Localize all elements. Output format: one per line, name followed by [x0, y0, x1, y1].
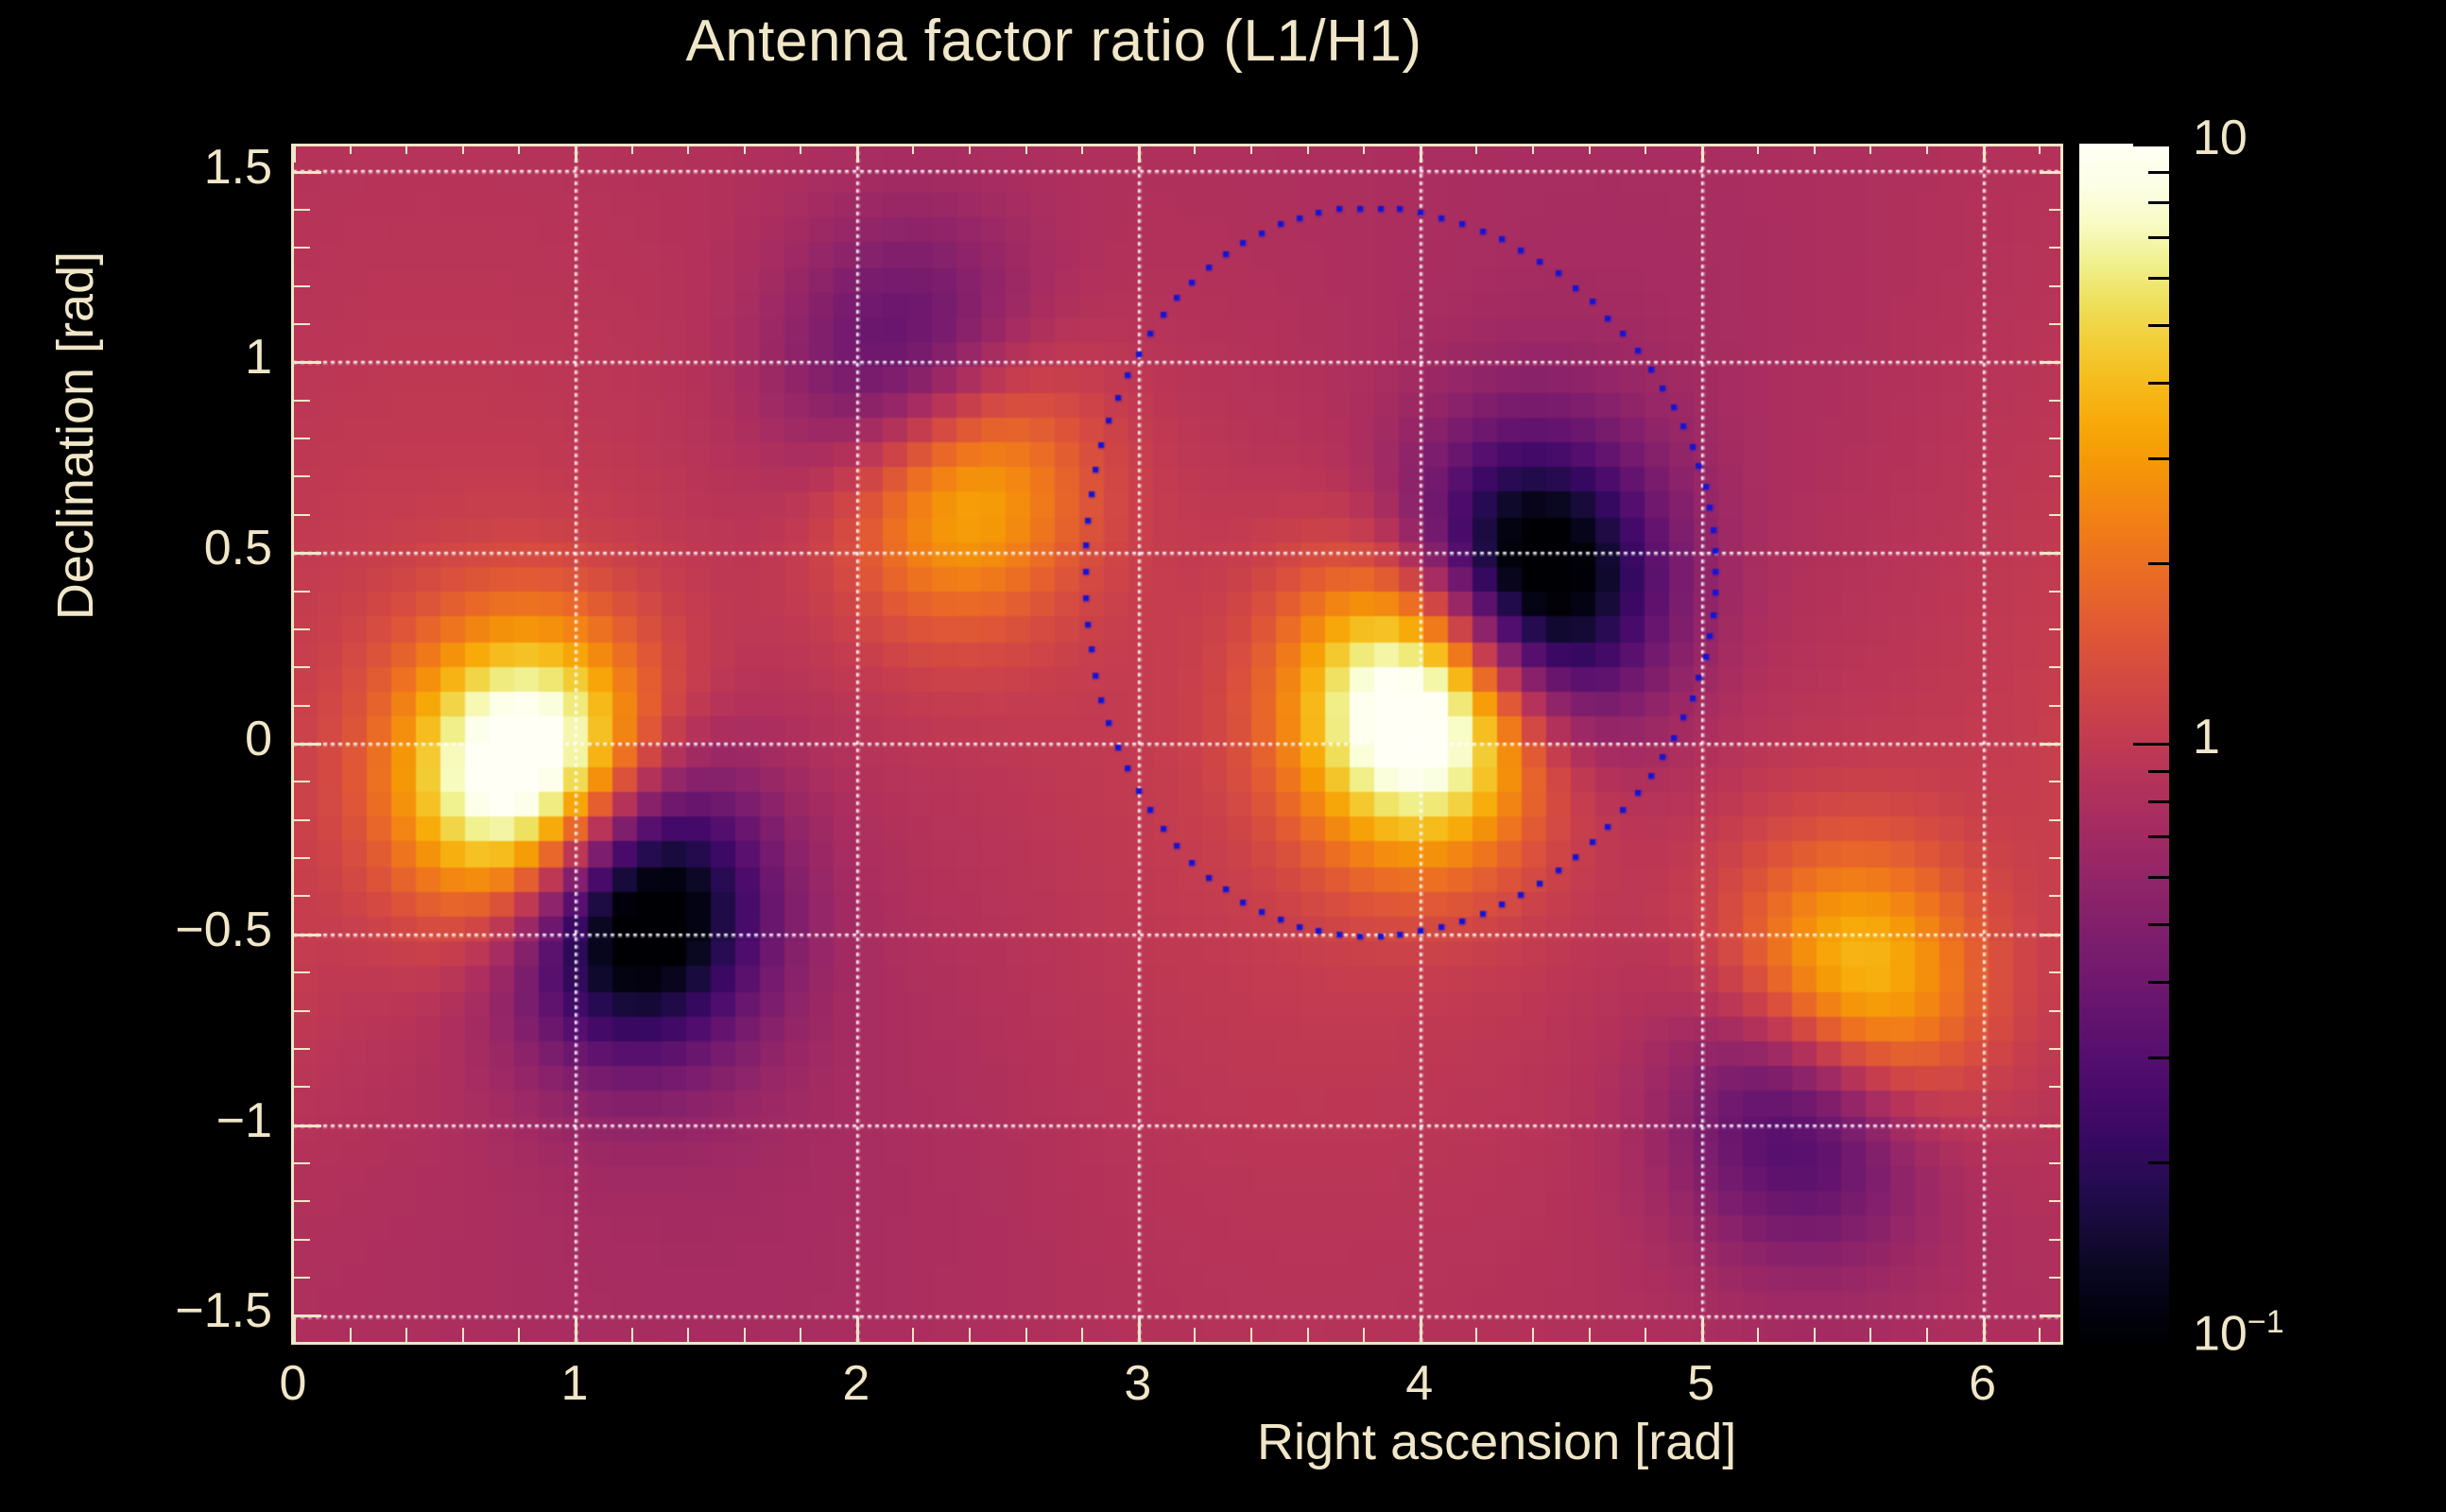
x-tick-minor	[969, 1328, 971, 1342]
sky-localization-contour	[293, 144, 2062, 1342]
y-tick-minor	[293, 323, 310, 325]
y-tick-minor-right	[2049, 247, 2062, 249]
colorbar-label-min-base: 10	[2193, 1306, 2248, 1361]
y-tick-minor-right	[2049, 705, 2062, 707]
colorbar-label-max: 10	[2193, 110, 2248, 166]
y-tick-major	[293, 171, 321, 174]
x-tick-major	[1983, 1317, 1986, 1342]
y-tick-major	[293, 361, 321, 364]
x-tick-minor-top	[1194, 144, 1196, 154]
x-tick-minor-top	[912, 144, 914, 154]
x-tick-minor-top	[1869, 144, 1871, 154]
colorbar-tick-minor	[2148, 835, 2169, 838]
x-tick-minor	[350, 1328, 352, 1342]
y-tick-minor	[293, 400, 310, 402]
x-tick-minor	[1757, 1328, 1759, 1342]
plot-frame-top	[293, 144, 2062, 146]
y-tick-minor	[293, 705, 310, 707]
x-tick-minor-top	[462, 144, 464, 154]
y-tick-minor-right	[2049, 857, 2062, 859]
x-tick-major-top	[293, 144, 296, 163]
y-tick-minor-right	[2049, 1010, 2062, 1012]
y-axis-title: Declination [rad]	[46, 77, 105, 795]
colorbar-tick-minor	[2148, 770, 2169, 773]
x-tick-minor-top	[969, 144, 971, 154]
x-tick-label: 5	[1645, 1355, 1758, 1412]
y-tick-minor-right	[2049, 895, 2062, 897]
x-tick-minor-top	[518, 144, 520, 154]
colorbar-label-mid: 1	[2193, 709, 2220, 765]
colorbar-tick-minor	[2148, 277, 2169, 280]
x-tick-major-top	[1420, 144, 1422, 163]
y-tick-major-right	[2040, 1125, 2062, 1127]
x-tick-major-top	[1138, 144, 1141, 163]
y-tick-minor	[293, 1200, 310, 1202]
colorbar-tick-minor	[2148, 876, 2169, 879]
x-tick-major	[1420, 1317, 1422, 1342]
y-tick-minor	[293, 666, 310, 668]
colorbar-tick-minor	[2148, 457, 2169, 460]
x-tick-minor	[1532, 1328, 1534, 1342]
y-tick-label: −1	[0, 1092, 272, 1149]
y-tick-major	[293, 1314, 321, 1317]
colorbar-tick-minor	[2148, 1057, 2169, 1059]
x-tick-minor-top	[744, 144, 746, 154]
y-tick-major-right	[2040, 1314, 2062, 1317]
x-tick-minor-top	[631, 144, 633, 154]
x-tick-label: 2	[800, 1355, 913, 1412]
heatmap-plot-area	[293, 144, 2062, 1342]
y-tick-minor-right	[2049, 1048, 2062, 1050]
x-tick-minor	[405, 1328, 407, 1342]
x-tick-minor	[912, 1328, 914, 1342]
x-tick-minor-top	[1081, 144, 1083, 154]
y-tick-minor-right	[2049, 666, 2062, 668]
y-tick-minor	[293, 247, 310, 249]
y-tick-major	[293, 934, 321, 936]
y-tick-minor	[293, 475, 310, 477]
x-tick-minor	[1250, 1328, 1252, 1342]
y-tick-major-right	[2040, 361, 2062, 364]
colorbar-tick-minor	[2148, 981, 2169, 984]
x-tick-minor	[1475, 1328, 1477, 1342]
x-tick-minor-top	[1475, 144, 1477, 154]
x-tick-label: 6	[1926, 1355, 2040, 1412]
x-tick-minor-top	[1025, 144, 1027, 154]
x-tick-minor	[1869, 1328, 1871, 1342]
x-tick-major	[1138, 1317, 1141, 1342]
x-tick-minor-top	[1814, 144, 1816, 154]
y-tick-minor-right	[2049, 1200, 2062, 1202]
x-tick-minor-top	[1645, 144, 1646, 154]
y-tick-minor	[293, 1086, 310, 1088]
x-tick-minor-top	[1757, 144, 1759, 154]
x-tick-label: 1	[518, 1355, 631, 1412]
x-tick-minor	[800, 1328, 801, 1342]
x-tick-minor	[687, 1328, 689, 1342]
y-tick-minor	[293, 819, 310, 821]
y-tick-major-right	[2040, 934, 2062, 936]
y-tick-minor-right	[2049, 628, 2062, 630]
x-tick-minor-top	[1363, 144, 1365, 154]
y-tick-minor	[293, 857, 310, 859]
x-tick-minor	[744, 1328, 746, 1342]
y-tick-minor	[293, 971, 310, 973]
x-tick-label: 0	[236, 1355, 350, 1412]
y-tick-label: 1.5	[0, 139, 272, 196]
y-tick-major-right	[2040, 743, 2062, 746]
y-tick-minor	[293, 628, 310, 630]
y-tick-minor-right	[2049, 1162, 2062, 1164]
y-tick-major	[293, 552, 321, 555]
x-tick-major-top	[575, 144, 577, 163]
y-tick-major-right	[2040, 171, 2062, 174]
y-tick-minor-right	[2049, 591, 2062, 593]
y-tick-minor	[293, 1239, 310, 1241]
y-tick-minor-right	[2049, 819, 2062, 821]
y-tick-minor	[293, 285, 310, 287]
x-tick-minor-top	[350, 144, 352, 154]
y-tick-label: 0	[0, 711, 272, 767]
x-tick-minor-top	[2039, 144, 2041, 154]
y-tick-minor	[293, 591, 310, 593]
x-tick-minor-top	[1532, 144, 1534, 154]
x-tick-label: 3	[1081, 1355, 1195, 1412]
y-tick-major	[293, 1125, 321, 1127]
x-tick-major	[575, 1317, 577, 1342]
x-tick-major-top	[856, 144, 859, 163]
x-tick-minor-top	[1250, 144, 1252, 154]
x-tick-minor-top	[687, 144, 689, 154]
y-tick-minor	[293, 1048, 310, 1050]
y-tick-minor-right	[2049, 514, 2062, 516]
x-tick-minor	[2039, 1328, 2041, 1342]
x-tick-major	[293, 1317, 296, 1342]
y-tick-major-right	[2040, 552, 2062, 555]
x-tick-major	[1701, 1317, 1704, 1342]
plot-frame-bottom	[293, 1342, 2062, 1345]
y-tick-label: 1	[0, 329, 272, 386]
colorbar-tick-minor	[2148, 1161, 2169, 1164]
x-tick-minor-top	[1307, 144, 1309, 154]
colorbar-label-min: 10−1	[2193, 1304, 2284, 1362]
colorbar-tick-minor	[2148, 201, 2169, 204]
colorbar-label-min-exp: −1	[2248, 1304, 2284, 1340]
x-tick-label: 4	[1363, 1355, 1476, 1412]
x-tick-minor-top	[1926, 144, 1928, 154]
y-tick-minor-right	[2049, 475, 2062, 477]
x-tick-major	[856, 1317, 859, 1342]
x-tick-minor	[1926, 1328, 1928, 1342]
y-tick-minor	[293, 1162, 310, 1164]
figure-canvas: Antenna factor ratio (L1/H1) 01234561.51…	[0, 0, 2446, 1512]
colorbar-tick-minor	[2148, 171, 2169, 174]
x-axis-title: Right ascension [rad]	[1257, 1413, 1736, 1471]
y-tick-minor	[293, 1010, 310, 1012]
x-tick-minor	[1363, 1328, 1365, 1342]
colorbar-tick-minor	[2148, 800, 2169, 803]
y-tick-minor	[293, 895, 310, 897]
x-tick-major-top	[1983, 144, 1986, 163]
y-tick-minor-right	[2049, 285, 2062, 287]
colorbar-tick-minor	[2148, 923, 2169, 926]
colorbar-tick-minor	[2148, 236, 2169, 239]
colorbar-tick-major	[2133, 743, 2169, 746]
y-tick-label: −0.5	[0, 902, 272, 958]
x-tick-minor-top	[1589, 144, 1591, 154]
y-tick-minor-right	[2049, 971, 2062, 973]
x-tick-minor-top	[800, 144, 801, 154]
x-tick-minor	[1081, 1328, 1083, 1342]
x-tick-minor	[1645, 1328, 1646, 1342]
y-tick-minor	[293, 1277, 310, 1279]
x-tick-minor	[1814, 1328, 1816, 1342]
y-tick-minor-right	[2049, 781, 2062, 782]
y-tick-major	[293, 743, 321, 746]
y-tick-minor-right	[2049, 209, 2062, 211]
y-tick-minor-right	[2049, 1239, 2062, 1241]
x-tick-minor	[462, 1328, 464, 1342]
x-tick-minor	[1194, 1328, 1196, 1342]
colorbar-tick-minor	[2148, 562, 2169, 565]
y-tick-minor-right	[2049, 400, 2062, 402]
y-tick-minor	[293, 209, 310, 211]
page-title: Antenna factor ratio (L1/H1)	[0, 8, 2108, 75]
y-tick-minor-right	[2049, 1277, 2062, 1279]
y-tick-label: −1.5	[0, 1282, 272, 1339]
y-tick-minor-right	[2049, 323, 2062, 325]
x-tick-minor	[1307, 1328, 1309, 1342]
colorbar-tick-minor	[2148, 382, 2169, 385]
y-tick-minor	[293, 514, 310, 516]
x-tick-minor-top	[405, 144, 407, 154]
x-tick-minor	[1025, 1328, 1027, 1342]
y-tick-label: 0.5	[0, 520, 272, 576]
y-tick-minor-right	[2049, 438, 2062, 439]
x-tick-minor	[1589, 1328, 1591, 1342]
y-tick-minor-right	[2049, 1086, 2062, 1088]
x-tick-major-top	[1701, 144, 1704, 163]
y-tick-minor	[293, 781, 310, 782]
x-tick-minor	[631, 1328, 633, 1342]
colorbar-tick-major	[2133, 1342, 2169, 1345]
colorbar-tick-minor	[2148, 324, 2169, 327]
x-tick-minor	[518, 1328, 520, 1342]
colorbar-tick-major	[2133, 144, 2169, 146]
y-tick-minor	[293, 438, 310, 439]
